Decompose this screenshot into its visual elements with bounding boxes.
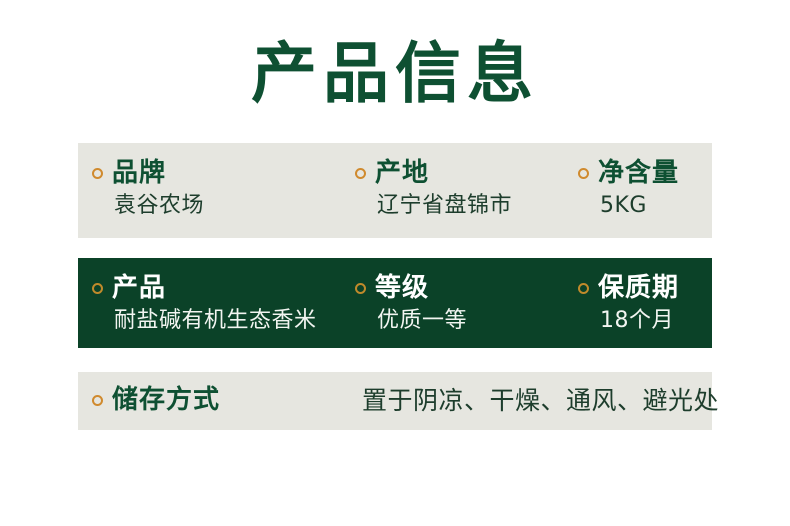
- circle-outline-icon: [355, 283, 366, 294]
- info-label: 储存方式: [112, 386, 220, 414]
- info-value: 辽宁省盘锦市: [377, 193, 512, 219]
- info-label-line: 净含量: [578, 159, 679, 187]
- info-value: 18个月: [600, 308, 674, 334]
- circle-outline-icon: [92, 283, 103, 294]
- circle-outline-icon: [92, 168, 103, 179]
- info-row-3: 储存方式 置于阴凉、干燥、通风、避光处: [78, 372, 712, 430]
- info-label-line: 产地: [355, 159, 429, 187]
- product-info-page: 产品信息 品牌 袁谷农场 产地 辽宁省盘锦市 净含量 5KG: [0, 0, 790, 526]
- info-label: 保质期: [598, 274, 679, 302]
- info-label-line: 等级: [355, 274, 429, 302]
- info-label: 产地: [375, 159, 429, 187]
- info-label-line: 产品: [92, 274, 166, 302]
- info-value: 耐盐碱有机生态香米: [114, 308, 317, 334]
- info-row-1: 品牌 袁谷农场 产地 辽宁省盘锦市 净含量 5KG: [78, 143, 712, 238]
- circle-outline-icon: [92, 395, 103, 406]
- info-value: 5KG: [600, 193, 647, 219]
- info-row-2: 产品 耐盐碱有机生态香米 等级 优质一等 保质期 18个月: [78, 258, 712, 348]
- info-label: 等级: [375, 274, 429, 302]
- info-label: 净含量: [598, 159, 679, 187]
- info-label: 产品: [112, 274, 166, 302]
- page-title: 产品信息: [0, 36, 790, 112]
- info-label-line: 保质期: [578, 274, 679, 302]
- circle-outline-icon: [355, 168, 366, 179]
- info-value: 袁谷农场: [114, 193, 204, 219]
- info-label: 品牌: [112, 159, 166, 187]
- info-value: 置于阴凉、干燥、通风、避光处: [362, 386, 719, 416]
- info-label-line: 品牌: [92, 159, 166, 187]
- circle-outline-icon: [578, 283, 589, 294]
- circle-outline-icon: [578, 168, 589, 179]
- info-value: 优质一等: [377, 308, 467, 334]
- info-label-line: 储存方式: [92, 386, 220, 414]
